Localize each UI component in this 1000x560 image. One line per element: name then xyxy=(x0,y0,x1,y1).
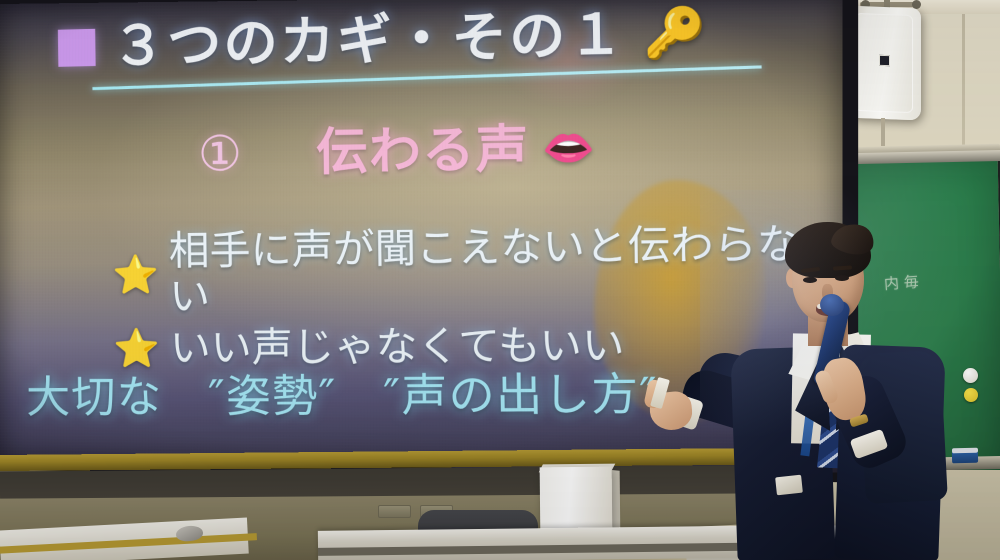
slide-footer-text: 大切な ″姿勢″ ″声の出し方″ xyxy=(26,373,658,421)
bullet-text: いい声じゃなくてもいい xyxy=(170,323,625,371)
star-icon: ⭐ xyxy=(112,256,159,294)
presenter xyxy=(712,200,962,560)
slide-subtitle: 伝わる声 xyxy=(316,123,530,178)
screenshot-scene: 内 毎 ３つのカギ・その１ 🔑 ① 伝わる声 👄 xyxy=(0,0,1000,560)
slide-title: ３つのカギ・その１ xyxy=(111,7,626,73)
slide-title-row: ３つのカギ・その１ 🔑 xyxy=(58,5,707,75)
lips-icon: 👄 xyxy=(542,127,595,169)
chalkboard-magnet-white xyxy=(963,368,978,383)
wall-outlet-left xyxy=(378,505,411,518)
slide-subtitle-row: ① 伝わる声 👄 xyxy=(198,122,596,180)
speaker-support-pole xyxy=(881,118,885,146)
presenter-eye-right xyxy=(835,275,849,281)
star-icon: ⭐ xyxy=(113,330,160,368)
presenter-name-badge xyxy=(775,475,803,496)
jbl-logo-icon xyxy=(879,55,890,66)
key-icon: 🔑 xyxy=(643,8,707,58)
chalkboard-magnet-yellow xyxy=(964,388,978,402)
purple-square-bullet-icon xyxy=(58,29,96,67)
presenter-eye-left xyxy=(803,277,817,283)
slide-subtitle-number: ① xyxy=(198,129,243,178)
